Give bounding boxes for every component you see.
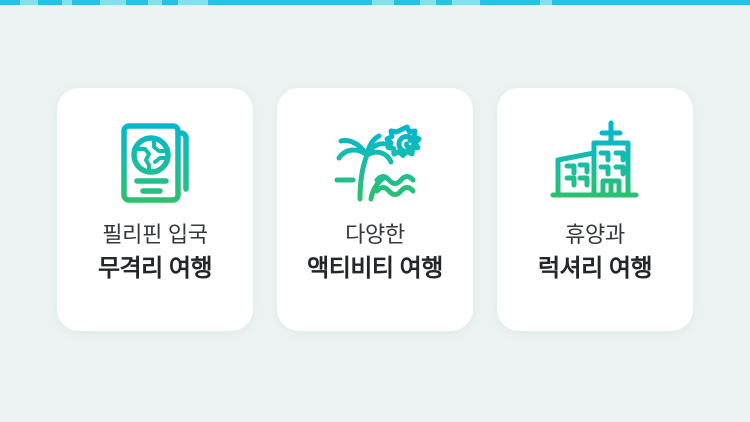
card-line1: 필리핀 입국 [57, 224, 253, 246]
accent-bar-speck [148, 0, 162, 5]
card-text-block: 필리핀 입국 무격리 여행 [57, 224, 253, 281]
accent-bar-speck [540, 0, 552, 5]
card-line2: 무격리 여행 [57, 257, 253, 281]
promo-cards-page: 필리핀 입국 무격리 여행 [0, 0, 750, 422]
card-line1: 다양한 [277, 224, 473, 246]
accent-bar-speck [20, 0, 38, 5]
card-line1: 휴양과 [497, 224, 693, 246]
card-text-block: 휴양과 럭셔리 여행 [497, 224, 693, 281]
hotel-buildings-icon [545, 114, 645, 206]
promo-card-luxury[interactable]: 휴양과 럭셔리 여행 [497, 88, 693, 331]
card-line2: 럭셔리 여행 [497, 257, 693, 281]
passport-globe-icon [105, 114, 205, 206]
card-line2: 액티비티 여행 [277, 257, 473, 281]
cards-row: 필리핀 입국 무격리 여행 [57, 88, 693, 331]
palm-tree-sun-waves-icon [325, 114, 425, 206]
accent-bar-speck [452, 0, 480, 5]
card-text-block: 다양한 액티비티 여행 [277, 224, 473, 281]
promo-card-activity[interactable]: 다양한 액티비티 여행 [277, 88, 473, 331]
promo-card-passport[interactable]: 필리핀 입국 무격리 여행 [57, 88, 253, 331]
accent-bar-speck [420, 0, 436, 5]
accent-bar-speck [100, 0, 126, 5]
accent-bar-speck [372, 0, 394, 5]
top-accent-bar [0, 0, 750, 5]
accent-bar-speck [178, 0, 208, 5]
accent-bar-speck [62, 0, 72, 5]
